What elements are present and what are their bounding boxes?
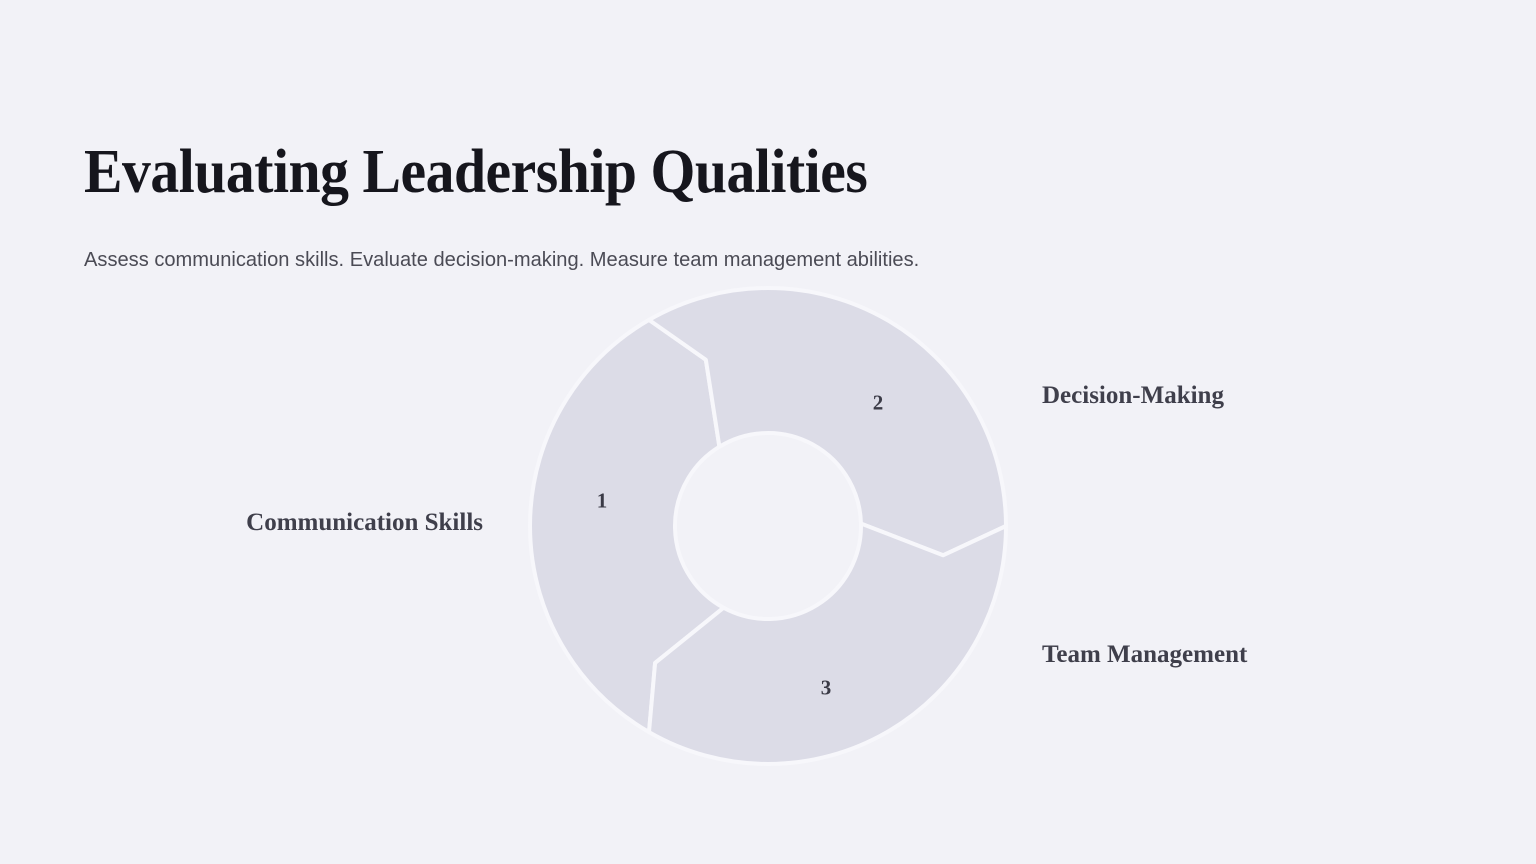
segment-number: 1	[597, 489, 608, 514]
segment-number: 2	[873, 391, 884, 416]
donut-segments	[530, 288, 1006, 764]
segment-number: 3	[821, 676, 832, 701]
donut-chart: 123 Communication SkillsDecision-MakingT…	[0, 0, 1536, 864]
slide-subtitle: Assess communication skills. Evaluate de…	[84, 245, 919, 275]
category-label-team-management: Team Management	[1042, 639, 1247, 671]
donut-segment[interactable]	[649, 524, 1006, 764]
category-label-communication-skills: Communication Skills	[246, 507, 483, 539]
donut-segment[interactable]	[649, 288, 1006, 555]
page-title: Evaluating Leadership Qualities	[84, 136, 867, 208]
slide-canvas: Evaluating Leadership Qualities Assess c…	[0, 0, 1536, 864]
donut-chart-svg	[0, 0, 1536, 864]
category-label-decision-making: Decision-Making	[1042, 380, 1224, 412]
donut-segment[interactable]	[530, 320, 724, 732]
